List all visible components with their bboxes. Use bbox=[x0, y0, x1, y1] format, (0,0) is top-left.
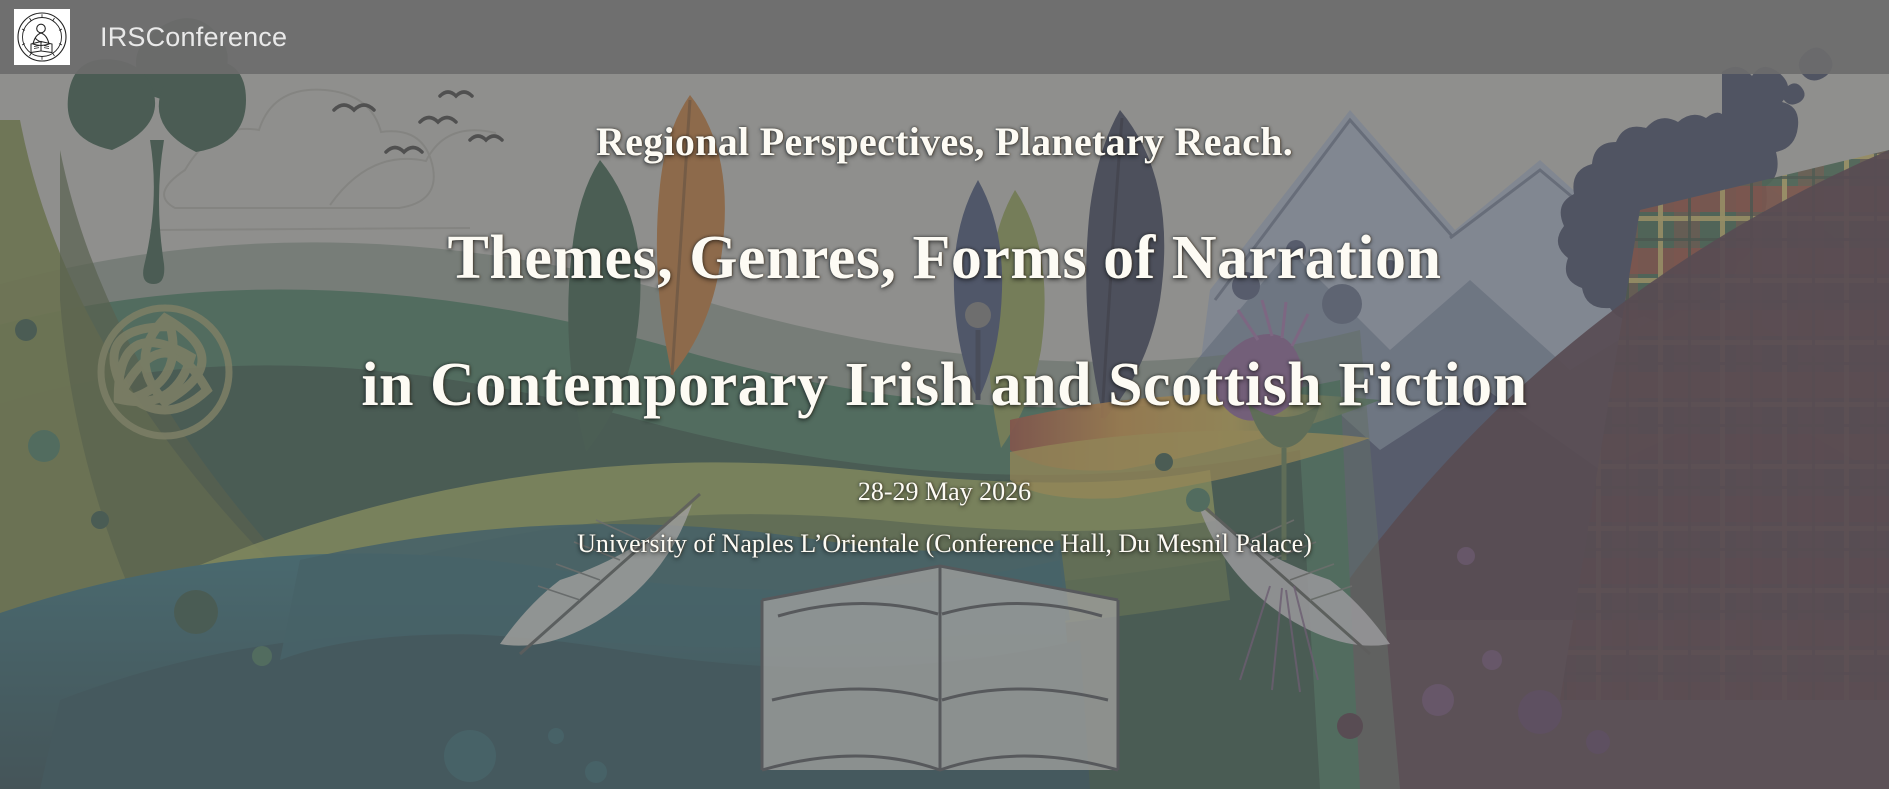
site-title[interactable]: IRSConference bbox=[100, 22, 287, 53]
seal-icon bbox=[16, 11, 68, 63]
background-artwork bbox=[0, 0, 1889, 789]
site-header: IRSConference bbox=[0, 0, 1889, 74]
university-seal-logo[interactable] bbox=[14, 9, 70, 65]
open-book-line-art bbox=[762, 566, 1118, 770]
conference-banner: IRSConference Regional Perspectives, Pla… bbox=[0, 0, 1889, 789]
